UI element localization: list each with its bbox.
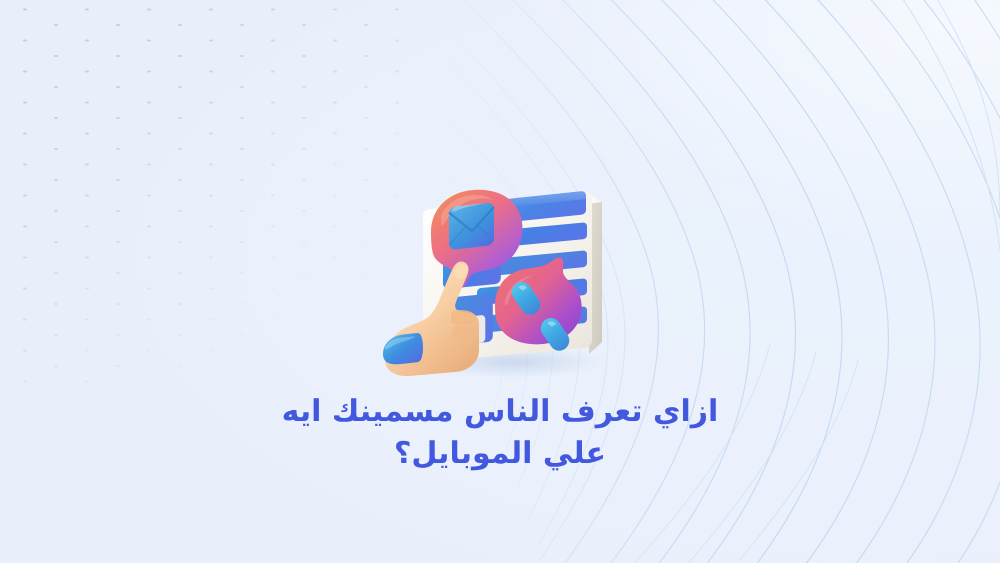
dot-grid-pattern — [0, 0, 414, 394]
page-title: ازاي تعرف الناس مسمينك ايه علي الموبايل؟ — [0, 392, 1000, 473]
3d-contact-card-illustration — [383, 172, 623, 377]
headline-line-1: ازاي تعرف الناس مسمينك ايه — [0, 392, 1000, 432]
headline-line-2: علي الموبايل؟ — [0, 434, 1000, 474]
poster-canvas: ازاي تعرف الناس مسمينك ايه علي الموبايل؟ — [0, 0, 1000, 563]
